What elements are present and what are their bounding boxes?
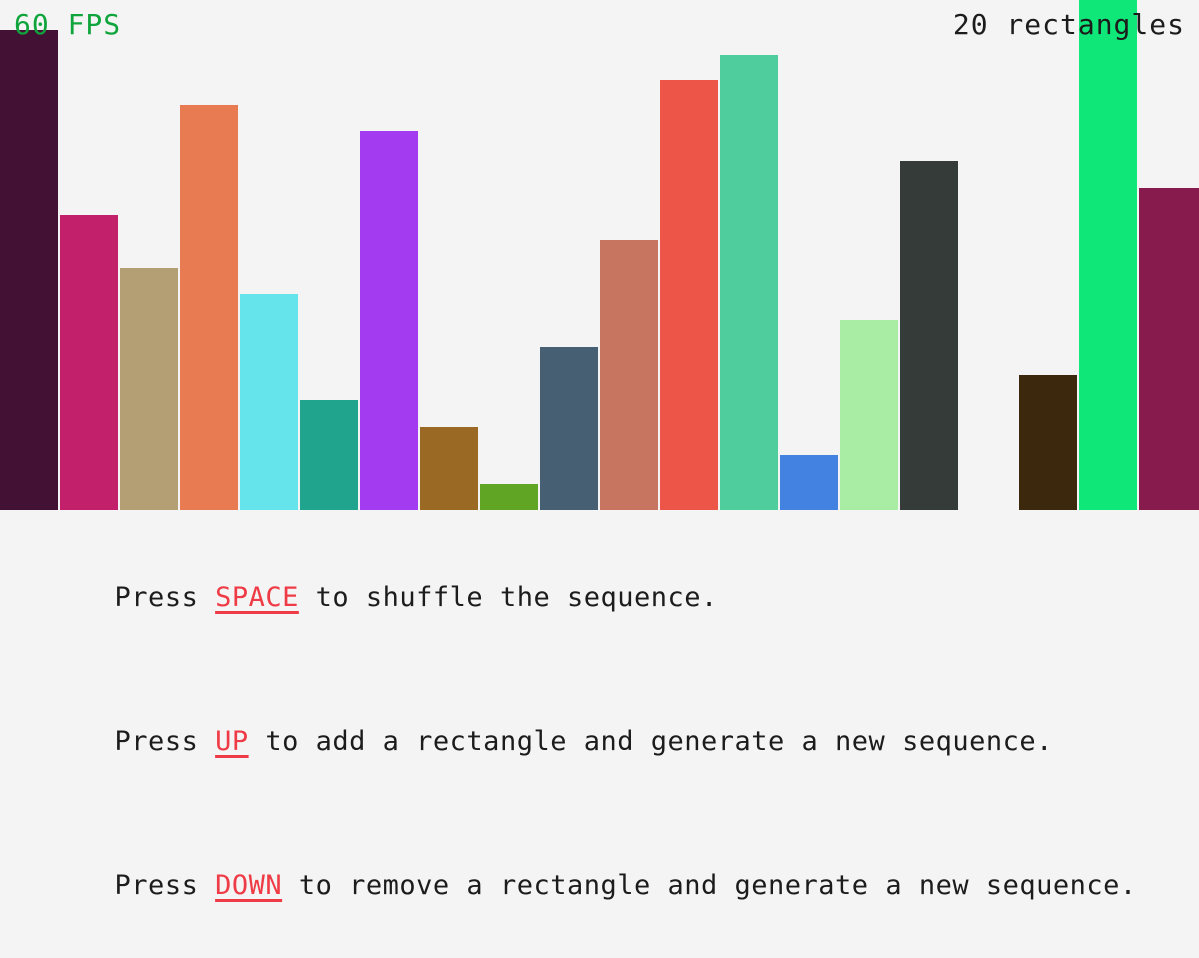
bar-rect-5 bbox=[240, 294, 298, 510]
instruction-prefix-remove: Press bbox=[115, 870, 216, 901]
instruction-suffix-remove: to remove a rectangle and generate a new… bbox=[282, 870, 1137, 901]
bar-rect-11 bbox=[600, 240, 658, 510]
key-up[interactable]: UP bbox=[215, 726, 249, 757]
bar-rect-12 bbox=[660, 80, 718, 510]
bar-rect-6 bbox=[300, 400, 358, 510]
instruction-suffix-shuffle: to shuffle the sequence. bbox=[299, 582, 718, 613]
bar-rect-16 bbox=[900, 161, 958, 510]
rectangle-sequence-canvas[interactable] bbox=[0, 0, 1199, 510]
bar-rect-9 bbox=[480, 484, 538, 510]
bar-rect-19 bbox=[1079, 0, 1137, 510]
bar-rect-15 bbox=[840, 320, 898, 510]
bar-rect-18 bbox=[1019, 375, 1077, 510]
app-root: 60 FPS 20 rectangles Press SPACE to shuf… bbox=[0, 0, 1199, 675]
key-space[interactable]: SPACE bbox=[215, 582, 299, 613]
instruction-suffix-add: to add a rectangle and generate a new se… bbox=[249, 726, 1053, 757]
bar-rect-4 bbox=[180, 105, 238, 510]
fps-counter: 60 FPS bbox=[14, 8, 121, 41]
key-down[interactable]: DOWN bbox=[215, 870, 282, 901]
bar-rect-8 bbox=[420, 427, 478, 510]
instruction-prefix-add: Press bbox=[115, 726, 216, 757]
bar-rect-20 bbox=[1139, 188, 1199, 510]
instruction-prefix-shuffle: Press bbox=[115, 582, 216, 613]
instructions-panel: Press SPACE to shuffle the sequence. Pre… bbox=[0, 512, 1199, 675]
bar-rect-1 bbox=[0, 30, 58, 510]
bar-rect-7 bbox=[360, 131, 418, 510]
bar-rect-14 bbox=[780, 455, 838, 510]
bar-rect-10 bbox=[540, 347, 598, 510]
bar-rect-13 bbox=[720, 55, 778, 510]
bar-rect-2 bbox=[60, 215, 118, 510]
rectangle-count-label: 20 rectangles bbox=[953, 8, 1185, 41]
bar-rect-3 bbox=[120, 268, 178, 510]
instruction-line-remove: Press DOWN to remove a rectangle and gen… bbox=[14, 814, 1199, 958]
instruction-line-add: Press UP to add a rectangle and generate… bbox=[14, 670, 1199, 814]
instruction-line-shuffle: Press SPACE to shuffle the sequence. bbox=[14, 526, 1199, 670]
